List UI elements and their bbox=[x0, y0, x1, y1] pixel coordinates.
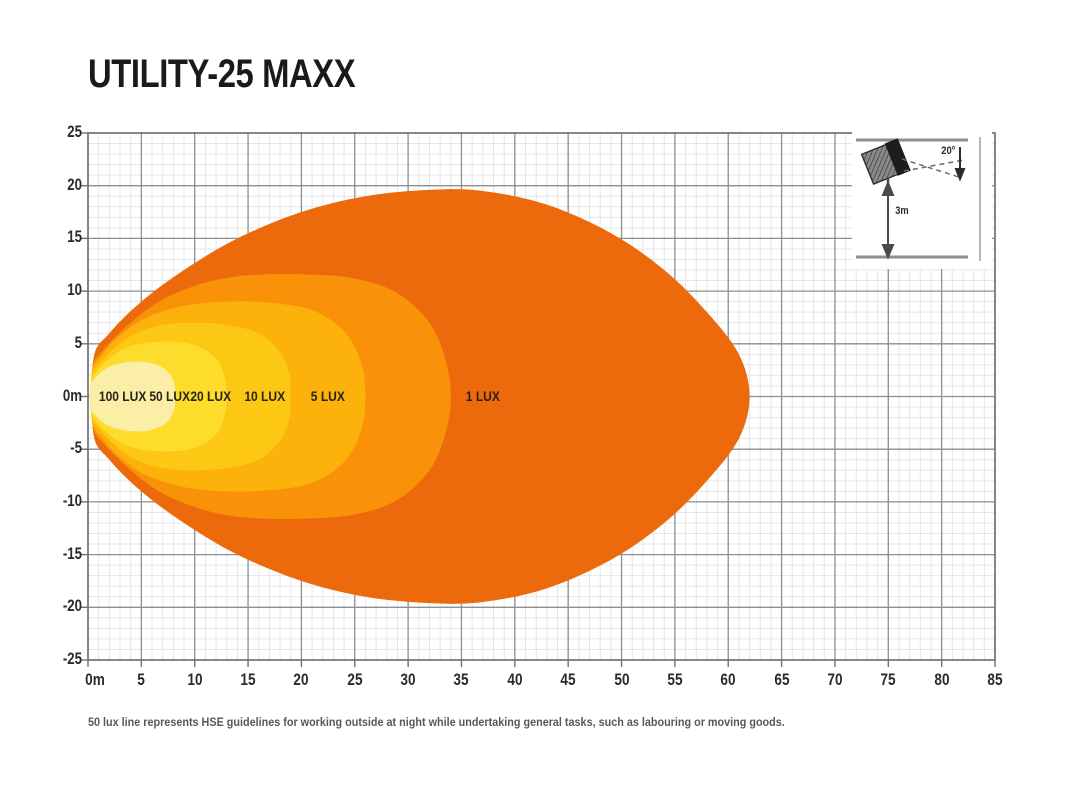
beam-pattern-page: UTILITY-25 MAXX 2520151050m-5-10-15-20-2… bbox=[0, 0, 1067, 800]
x-tick-label: 25 bbox=[339, 670, 371, 690]
lux-label-50-lux: 50 LUX bbox=[149, 388, 190, 404]
height-arrow bbox=[883, 183, 893, 257]
x-tick-label: 0m bbox=[79, 670, 111, 690]
lux-label-100-lux: 100 LUX bbox=[99, 388, 147, 404]
inset-height-label: 3m bbox=[895, 205, 909, 217]
x-tick-label: 40 bbox=[499, 670, 531, 690]
lux-label-20-lux: 20 LUX bbox=[191, 388, 232, 404]
x-tick-label: 75 bbox=[872, 670, 904, 690]
lux-label-1-lux: 1 LUX bbox=[466, 388, 500, 404]
x-tick-label: 60 bbox=[712, 670, 744, 690]
angle-arrow bbox=[956, 147, 964, 179]
lux-label-10-lux: 10 LUX bbox=[244, 388, 285, 404]
x-tick-label: 55 bbox=[659, 670, 691, 690]
x-tick-label: 70 bbox=[819, 670, 851, 690]
lamp-icon bbox=[861, 139, 910, 185]
x-tick-label: 10 bbox=[179, 670, 211, 690]
inset-angle-label: 20° bbox=[941, 145, 955, 157]
x-tick-label: 65 bbox=[766, 670, 798, 690]
x-tick-label: 80 bbox=[926, 670, 958, 690]
x-tick-label: 5 bbox=[125, 670, 157, 690]
x-tick-label: 85 bbox=[979, 670, 1011, 690]
x-tick-label: 50 bbox=[606, 670, 638, 690]
x-tick-label: 30 bbox=[392, 670, 424, 690]
lux-label-5-lux: 5 LUX bbox=[311, 388, 345, 404]
beam-direction-line bbox=[902, 159, 964, 178]
x-tick-label: 45 bbox=[552, 670, 584, 690]
x-tick-label: 15 bbox=[232, 670, 264, 690]
x-tick-label: 20 bbox=[285, 670, 317, 690]
x-tick-label: 35 bbox=[445, 670, 477, 690]
mounting-diagram-inset: 20° 3m bbox=[852, 131, 992, 269]
footnote: 50 lux line represents HSE guidelines fo… bbox=[88, 717, 785, 729]
